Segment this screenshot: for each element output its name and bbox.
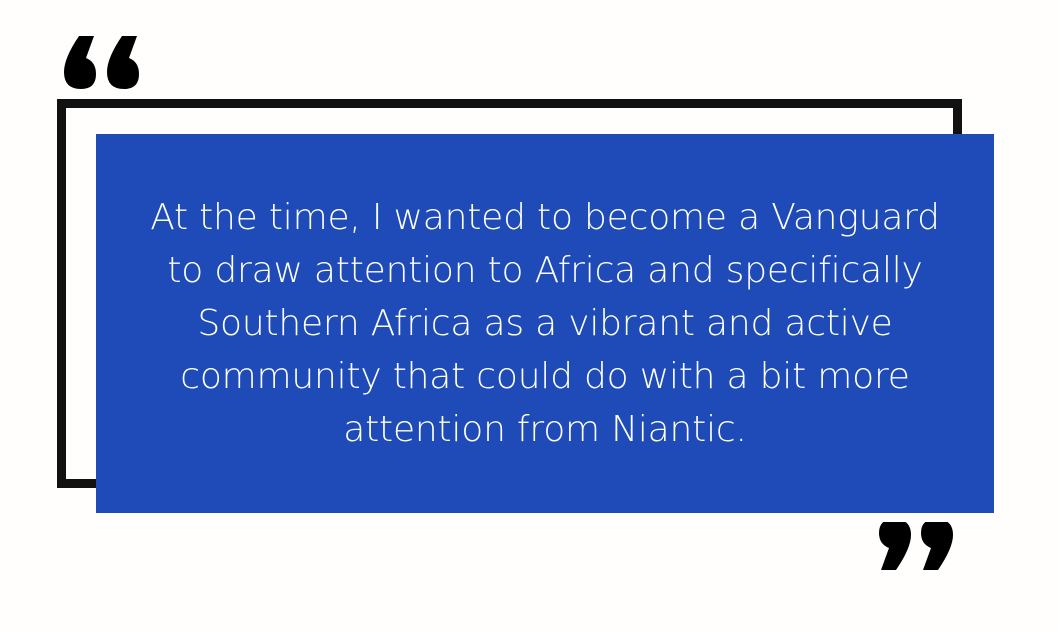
open-quotation-mark-icon [56,14,146,100]
quote-card: At the time, I wanted to become a Vangua… [0,0,1058,632]
quote-panel: At the time, I wanted to become a Vangua… [96,134,994,513]
close-quotation-mark-icon [878,522,960,592]
quote-text: At the time, I wanted to become a Vangua… [130,191,960,456]
